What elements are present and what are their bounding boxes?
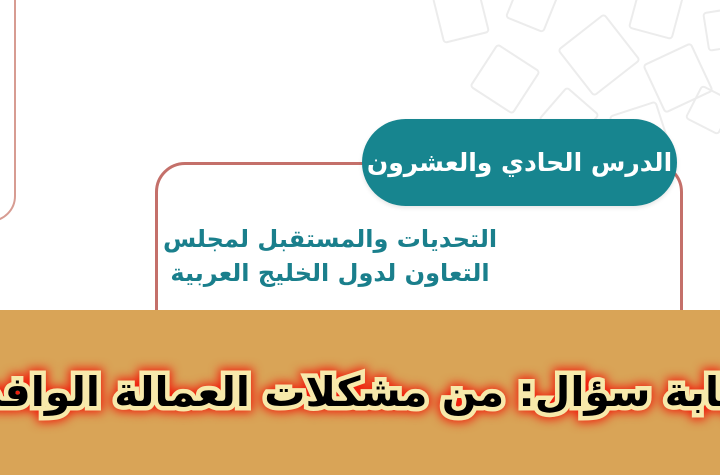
left-page-frame bbox=[0, 0, 16, 222]
lesson-title-line-1: التحديات والمستقبل لمجلس bbox=[163, 225, 497, 253]
lesson-number-label: الدرس الحادي والعشرون bbox=[367, 148, 672, 177]
confetti-square-0 bbox=[433, 0, 489, 43]
lesson-title-line-2: التعاون لدول الخليج العربية bbox=[130, 256, 530, 290]
confetti-square-1 bbox=[506, 0, 558, 32]
confetti-square-5 bbox=[470, 44, 539, 113]
confetti-square-2 bbox=[558, 14, 639, 95]
textbook-page: الدرس الحادي والعشرون التحديات والمستقبل… bbox=[0, 0, 720, 310]
banner-headline: إجابة سؤال: من مشكلات العمالة الوافدة إج… bbox=[0, 372, 720, 413]
confetti-square-3 bbox=[629, 0, 683, 39]
confetti-square-6 bbox=[703, 7, 720, 50]
answer-banner: إجابة سؤال: من مشكلات العمالة الوافدة إج… bbox=[0, 310, 720, 475]
lesson-number-pill: الدرس الحادي والعشرون bbox=[362, 119, 677, 206]
confetti-square-4 bbox=[643, 43, 712, 112]
banner-headline-text: إجابة سؤال: من مشكلات العمالة الوافدة bbox=[0, 368, 720, 416]
lesson-title: التحديات والمستقبل لمجلس التعاون لدول ال… bbox=[130, 222, 530, 290]
confetti-square-9 bbox=[686, 86, 720, 134]
screenshot-root: الدرس الحادي والعشرون التحديات والمستقبل… bbox=[0, 0, 720, 475]
